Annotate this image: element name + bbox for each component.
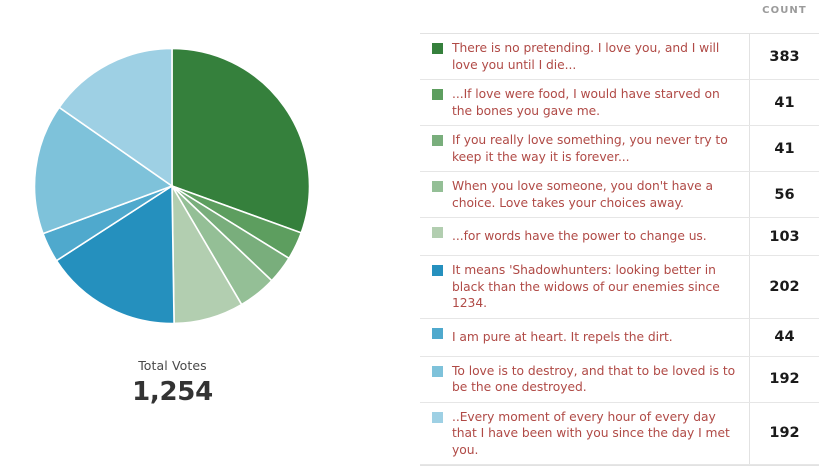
- pie-chart-panel: Total Votes 1,254: [0, 0, 415, 439]
- legend-count-value: 56: [750, 172, 819, 217]
- legend-color-swatch-icon: [432, 366, 443, 377]
- pie-chart[interactable]: [34, 48, 310, 324]
- legend-row-label-cell: If you really love something, you never …: [420, 126, 750, 171]
- legend-answer-text: To love is to destroy, and that to be lo…: [452, 363, 739, 396]
- legend-row-label-cell: I am pure at heart. It repels the dirt.: [420, 319, 750, 356]
- legend-color-swatch-icon: [432, 135, 443, 146]
- legend-row[interactable]: If you really love something, you never …: [420, 126, 819, 172]
- legend-row[interactable]: There is no pretending. I love you, and …: [420, 34, 819, 80]
- legend-row[interactable]: When you love someone, you don't have a …: [420, 172, 819, 218]
- total-votes-value: 1,254: [0, 376, 345, 408]
- legend-rows: There is no pretending. I love you, and …: [420, 33, 819, 465]
- legend-count-value: 103: [750, 218, 819, 255]
- count-column-header: COUNT: [750, 5, 819, 16]
- pie-slice-group: [34, 49, 309, 324]
- legend-row-label-cell: ..Every moment of every hour of every da…: [420, 403, 750, 465]
- legend-answer-text: ...for words have the power to change us…: [452, 228, 707, 245]
- legend-count-value: 383: [750, 34, 819, 79]
- legend-count-value: 192: [750, 403, 819, 465]
- legend-answer-text: If you really love something, you never …: [452, 132, 739, 165]
- legend-answer-text: It means 'Shadowhunters: looking better …: [452, 262, 739, 312]
- legend-answer-text: ...If love were food, I would have starv…: [452, 86, 739, 119]
- legend-count-value: 44: [750, 319, 819, 356]
- legend-row[interactable]: ...If love were food, I would have starv…: [420, 80, 819, 126]
- legend-row-label-cell: ...for words have the power to change us…: [420, 218, 750, 255]
- table-header-row: COUNT: [420, 0, 819, 33]
- legend-row-label-cell: To love is to destroy, and that to be lo…: [420, 357, 750, 402]
- legend-color-swatch-icon: [432, 89, 443, 100]
- legend-color-swatch-icon: [432, 328, 443, 339]
- legend-count-value: 192: [750, 357, 819, 402]
- legend-row-label-cell: It means 'Shadowhunters: looking better …: [420, 256, 750, 318]
- legend-row[interactable]: It means 'Shadowhunters: looking better …: [420, 256, 819, 319]
- total-votes-label: Total Votes: [0, 358, 345, 374]
- legend-row[interactable]: ..Every moment of every hour of every da…: [420, 403, 819, 466]
- legend-row[interactable]: To love is to destroy, and that to be lo…: [420, 357, 819, 403]
- legend-color-swatch-icon: [432, 43, 443, 54]
- legend-answer-text: I am pure at heart. It repels the dirt.: [452, 329, 673, 346]
- legend-row-label-cell: There is no pretending. I love you, and …: [420, 34, 750, 79]
- legend-row[interactable]: ...for words have the power to change us…: [420, 218, 819, 256]
- legend-count-table: COUNT There is no pretending. I love you…: [420, 0, 819, 439]
- legend-color-swatch-icon: [432, 265, 443, 276]
- total-votes-block: Total Votes 1,254: [0, 358, 345, 408]
- legend-color-swatch-icon: [432, 181, 443, 192]
- legend-count-value: 41: [750, 126, 819, 171]
- legend-answer-text: When you love someone, you don't have a …: [452, 178, 739, 211]
- legend-answer-text: ..Every moment of every hour of every da…: [452, 409, 739, 459]
- legend-color-swatch-icon: [432, 227, 443, 238]
- legend-row-label-cell: ...If love were food, I would have starv…: [420, 80, 750, 125]
- legend-count-value: 41: [750, 80, 819, 125]
- legend-color-swatch-icon: [432, 412, 443, 423]
- legend-row[interactable]: I am pure at heart. It repels the dirt.4…: [420, 319, 819, 357]
- legend-count-value: 202: [750, 256, 819, 318]
- legend-answer-text: There is no pretending. I love you, and …: [452, 40, 739, 73]
- legend-row-label-cell: When you love someone, you don't have a …: [420, 172, 750, 217]
